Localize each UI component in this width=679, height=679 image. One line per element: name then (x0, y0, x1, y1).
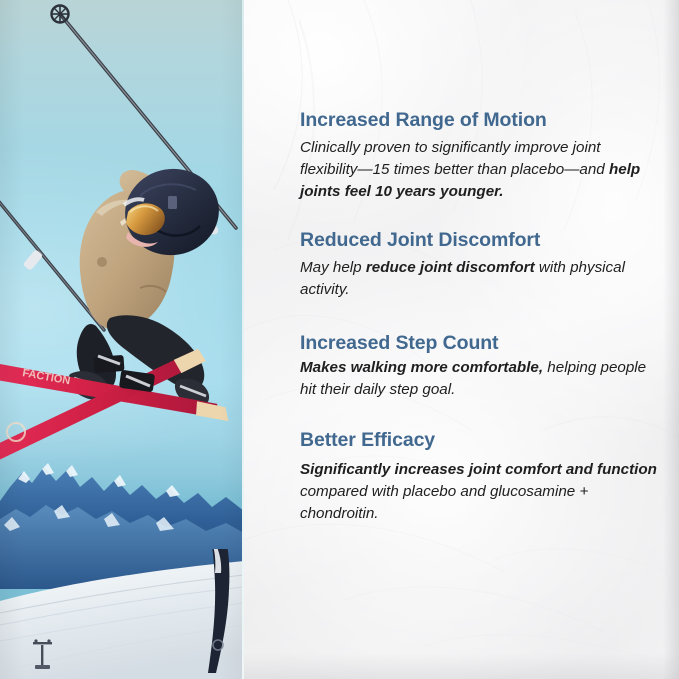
product-benefits-panel: FACTION (0, 0, 679, 679)
benefit-better-efficacy: Better Efficacy Significantly increases … (300, 428, 660, 524)
benefit-title: Increased Step Count (300, 331, 660, 356)
benefit-increased-step-count: Increased Step Count Makes walking more … (300, 331, 660, 401)
benefit-increased-range-of-motion: Increased Range of Motion Clinically pro… (300, 108, 660, 202)
benefit-title: Increased Range of Motion (300, 108, 660, 133)
feather-banner-flag (0, 549, 244, 679)
benefit-body: May help reduce joint discomfort with ph… (300, 257, 660, 300)
skier-photo-panel: FACTION (0, 0, 244, 679)
benefit-reduced-joint-discomfort: Reduced Joint Discomfort May help reduce… (300, 228, 660, 301)
benefits-list: Increased Range of Motion Clinically pro… (300, 108, 660, 524)
benefit-body: Significantly increases joint comfort an… (300, 459, 660, 524)
skis: FACTION (0, 344, 228, 470)
benefit-body: Clinically proven to significantly impro… (300, 137, 660, 202)
benefit-title: Better Efficacy (300, 428, 660, 453)
benefit-title: Reduced Joint Discomfort (300, 228, 660, 253)
benefit-body: Makes walking more comfortable, helping … (300, 357, 660, 400)
freestyle-skier: FACTION (0, 0, 244, 470)
benefits-content-panel: Increased Range of Motion Clinically pro… (244, 0, 679, 679)
